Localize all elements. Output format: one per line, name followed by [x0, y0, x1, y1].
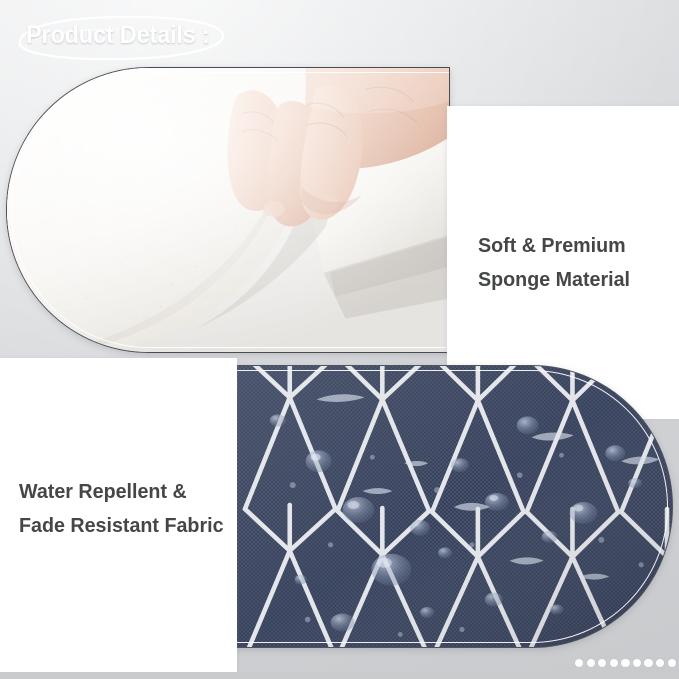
- dot-indicator-7[interactable]: [644, 659, 652, 667]
- sponge-foam-illustration: [7, 68, 449, 352]
- dots-indicator[interactable]: [575, 659, 676, 667]
- bottom-strip: [0, 672, 679, 679]
- caption-line-1: Soft & Premium: [478, 229, 660, 263]
- caption-panel-water-repellent: Water Repellent & Fade Resistant Fabric: [0, 358, 237, 672]
- page-title-text: Product Details :: [26, 21, 210, 50]
- product-details-infographic: Product Details :: [0, 0, 679, 679]
- dot-indicator-8[interactable]: [656, 659, 664, 667]
- caption-water-repellent: Water Repellent & Fade Resistant Fabric: [19, 475, 237, 543]
- navy-geometric-fabric-photo: [232, 365, 673, 648]
- dot-indicator-2[interactable]: [587, 659, 595, 667]
- page-title: Product Details :: [14, 13, 229, 61]
- caption-line-2: Fade Resistant Fabric: [19, 509, 228, 543]
- fabric-illustration: [233, 366, 672, 647]
- dot-indicator-1[interactable]: [575, 659, 583, 667]
- dot-indicator-9[interactable]: [668, 659, 676, 667]
- caption-line-2: Sponge Material: [478, 263, 660, 297]
- dot-indicator-3[interactable]: [598, 659, 606, 667]
- dot-indicator-5[interactable]: [621, 659, 629, 667]
- sponge-foam-photo: [6, 67, 450, 353]
- section-soft-premium-sponge: Soft & Premium Sponge Material: [0, 61, 679, 359]
- dot-indicator-4[interactable]: [610, 659, 618, 667]
- dot-indicator-6[interactable]: [633, 659, 641, 667]
- caption-line-1: Water Repellent &: [19, 475, 228, 509]
- caption-soft-premium: Soft & Premium Sponge Material: [478, 229, 668, 297]
